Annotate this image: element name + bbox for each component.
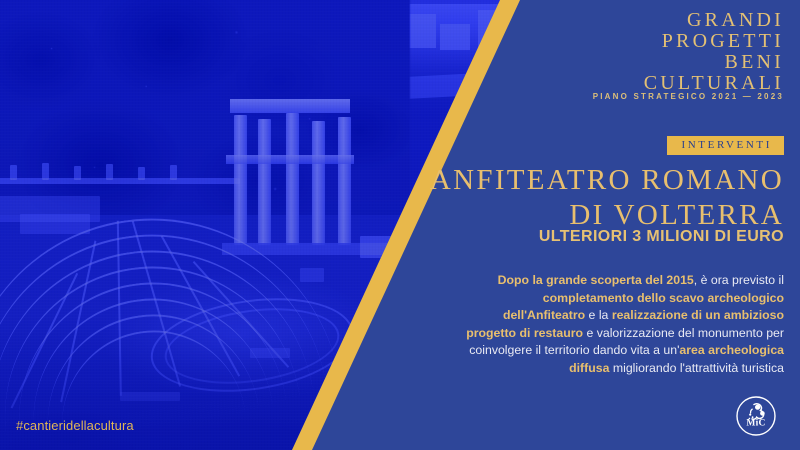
- title-line-1: ANFITEATRO ROMANO: [424, 163, 784, 198]
- kicker-line-4: CULTURALI: [464, 73, 784, 94]
- svg-text:MiC: MiC: [746, 419, 765, 429]
- description-segment-1: , è ora previsto il: [694, 273, 784, 287]
- ministero-della-cultura-logo: MiC: [734, 394, 778, 438]
- campaign-hashtag: #cantieridellacultura: [16, 418, 134, 433]
- program-kicker: GRANDI PROGETTI BENI CULTURALI: [464, 10, 784, 94]
- content-panel: GRANDI PROGETTI BENI CULTURALI PIANO STR…: [440, 0, 800, 450]
- description-paragraph: Dopo la grande scoperta del 2015, è ora …: [459, 272, 784, 378]
- funding-subtitle: ULTERIORI 3 MILIONI DI EURO: [424, 228, 784, 246]
- mic-emblem-icon: MiC: [734, 394, 778, 438]
- kicker-line-2: PROGETTI: [464, 31, 784, 52]
- kicker-line-1: GRANDI: [464, 10, 784, 31]
- status-badge: INTERVENTI: [667, 136, 785, 155]
- description-segment-7: migliorando l'attrattività turistica: [609, 361, 784, 375]
- plan-period-label: PIANO STRATEGICO 2021 — 2023: [464, 92, 784, 101]
- description-segment-0: Dopo la grande scoperta del 2015: [498, 273, 694, 287]
- page-title: ANFITEATRO ROMANO DI VOLTERRA: [424, 163, 784, 233]
- kicker-line-3: BENI: [464, 52, 784, 73]
- poster: GRANDI PROGETTI BENI CULTURALI PIANO STR…: [0, 0, 800, 450]
- description-segment-3: e la: [585, 308, 612, 322]
